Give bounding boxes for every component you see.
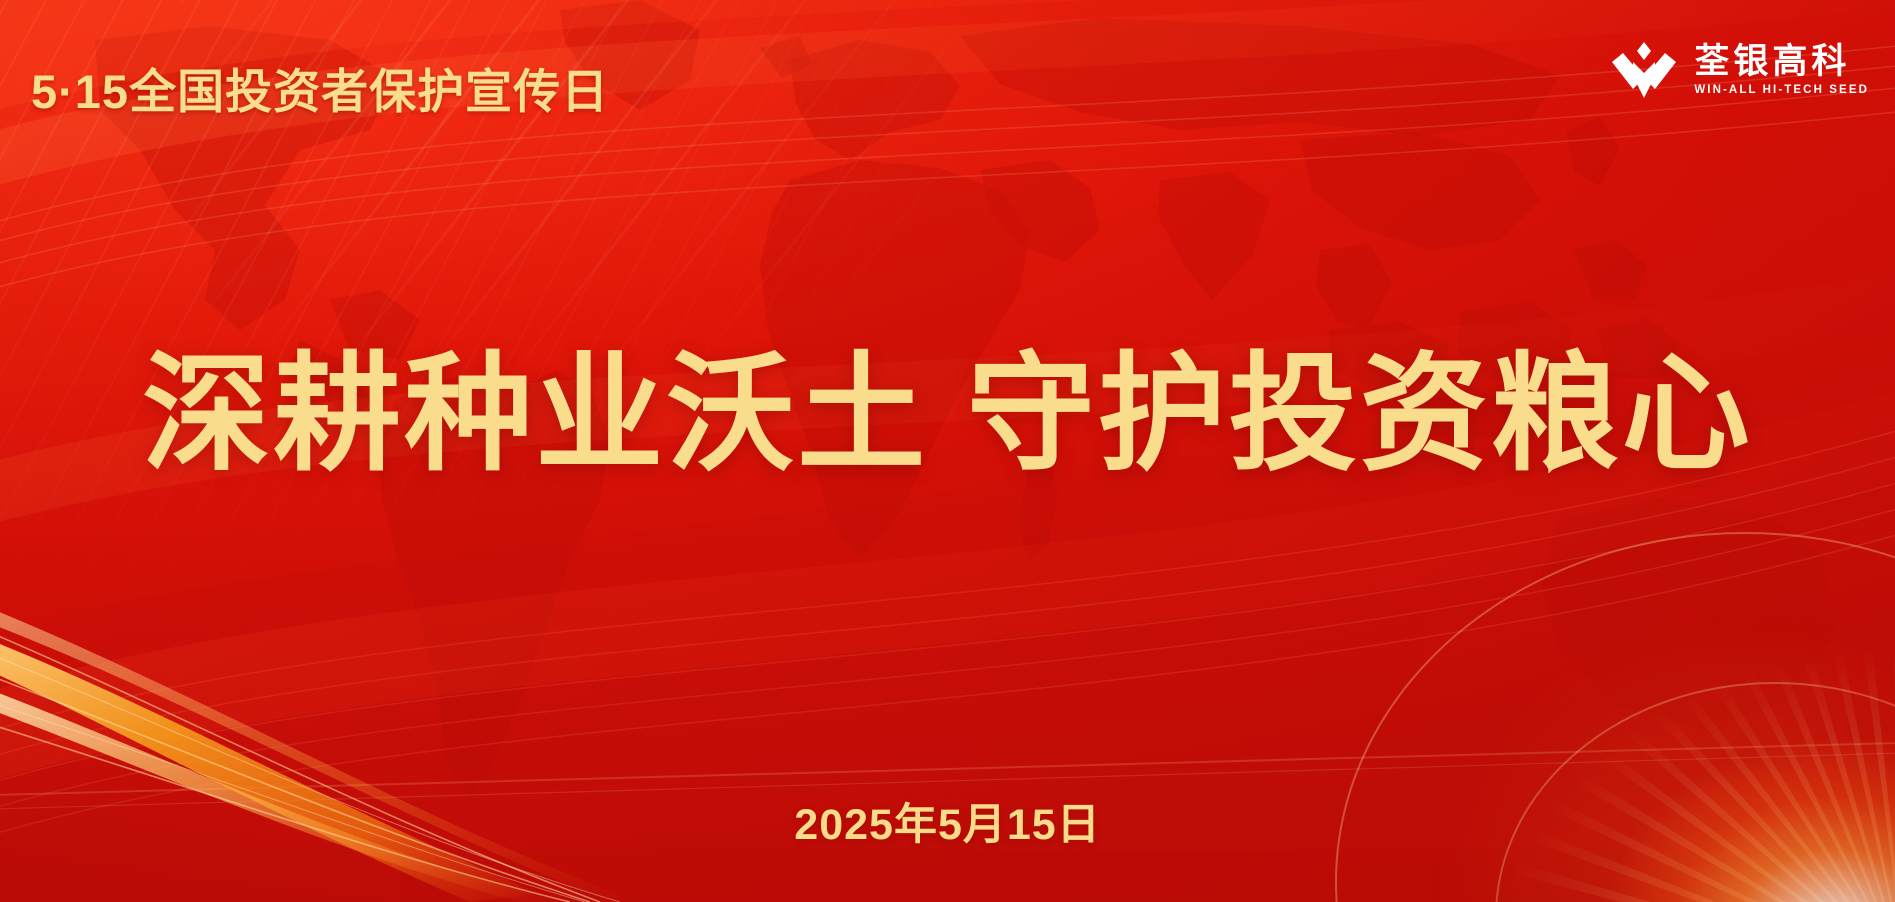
win-all-chevron-emblem-icon <box>1611 40 1677 100</box>
banner-content: 5·15全国投资者保护宣传日 荃银高科 <box>0 0 1895 902</box>
event-date: 2025年5月15日 <box>0 790 1895 852</box>
logo-name-cn: 荃银高科 <box>1694 44 1869 80</box>
logo-wordmark: 荃银高科 WIN-ALL HI-TECH SEED <box>1694 44 1869 97</box>
campaign-eyebrow-text: 5·15全国投资者保护宣传日 <box>31 53 609 122</box>
main-headline: 深耕种业沃土 守护投资粮心 <box>0 339 1895 490</box>
logo-name-en: WIN-ALL HI-TECH SEED <box>1694 84 1869 96</box>
company-logo: 荃银高科 WIN-ALL HI-TECH SEED <box>1611 40 1869 100</box>
banner-canvas: 5·15全国投资者保护宣传日 荃银高科 <box>0 0 1895 902</box>
